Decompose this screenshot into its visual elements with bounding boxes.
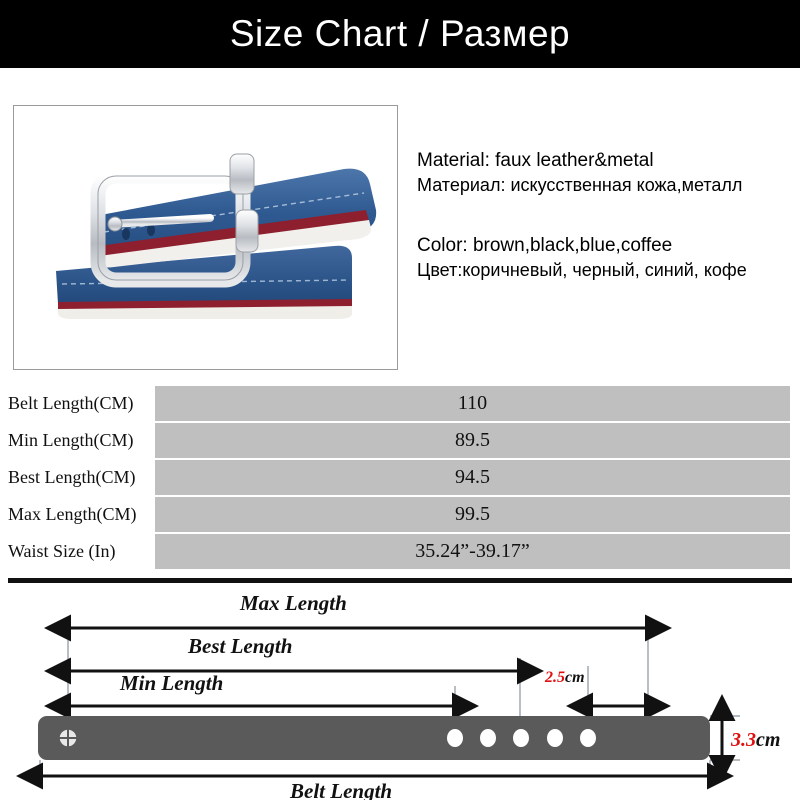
table-row: Belt Length(CM) 110 (0, 386, 800, 421)
belt-hole (580, 729, 596, 747)
row-label: Max Length(CM) (8, 497, 153, 532)
color-label-ru: Цвет:коричневый, черный, синий, кофе (417, 258, 797, 283)
color-label-en: Color: brown,black,blue,coffee (417, 233, 797, 258)
best-length-label: Best Length (187, 634, 292, 658)
belt-shape (38, 716, 710, 760)
product-photo-box (13, 105, 398, 370)
row-value: 94.5 (455, 466, 490, 489)
table-row: Best Length(CM) 94.5 (0, 460, 800, 495)
row-value: 35.24”-39.17” (415, 540, 529, 563)
hole-spacing-value: 2.5 (544, 669, 565, 686)
product-photo (14, 106, 397, 369)
belt-width-value: 3.3 (730, 729, 756, 751)
table-row: Min Length(CM) 89.5 (0, 423, 800, 458)
row-value-bar: 99.5 (155, 497, 790, 532)
belt-hole (447, 729, 463, 747)
row-value-bar: 110 (155, 386, 790, 421)
row-value: 89.5 (455, 429, 490, 452)
belt-length-label: Belt Length (289, 779, 392, 800)
row-label: Belt Length(CM) (8, 386, 153, 421)
header-banner: Size Chart / Размер (0, 0, 800, 68)
row-value: 99.5 (455, 503, 490, 526)
page-title: Size Chart / Размер (230, 13, 570, 55)
max-length-label: Max Length (239, 591, 347, 615)
table-row: Max Length(CM) 99.5 (0, 497, 800, 532)
belt-hole (547, 729, 563, 747)
row-label: Best Length(CM) (8, 460, 153, 495)
hole-spacing-unit: cm (565, 669, 585, 686)
row-value-bar: 94.5 (155, 460, 790, 495)
table-row: Waist Size (In) 35.24”-39.17” (0, 534, 800, 569)
row-label: Waist Size (In) (8, 534, 153, 569)
material-label-en: Material: faux leather&metal (417, 148, 797, 173)
size-table: Belt Length(CM) 110 Min Length(CM) 89.5 … (0, 386, 800, 571)
belt-hole (480, 729, 496, 747)
row-value-bar: 89.5 (155, 423, 790, 458)
belt-width-unit: cm (756, 729, 780, 751)
specification-block: Material: faux leather&metal Материал: и… (417, 148, 797, 283)
hole-spacing-label: 2.5cm (544, 669, 585, 686)
min-length-label: Min Length (119, 671, 223, 695)
guide-lines (68, 616, 648, 716)
material-label-ru: Материал: искусственная кожа,металл (417, 173, 797, 198)
row-value-bar: 35.24”-39.17” (155, 534, 790, 569)
belt-width-dimension: 3.3cm (710, 716, 780, 760)
belt-hole (513, 729, 529, 747)
spec-spacer (417, 198, 797, 233)
row-value: 110 (458, 392, 487, 415)
belt-width-label: 3.3cm (730, 729, 780, 751)
section-divider (8, 578, 792, 583)
row-label: Min Length(CM) (8, 423, 153, 458)
belt-measurement-diagram: Max Length Best Length Min Length 2.5cm (0, 588, 800, 800)
